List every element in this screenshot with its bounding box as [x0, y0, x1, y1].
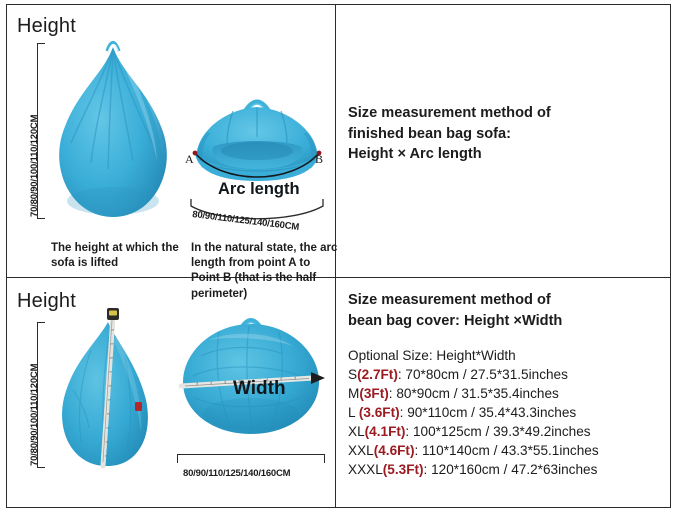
size-sep: : — [424, 462, 432, 477]
size-name: XL — [348, 424, 365, 439]
size-ft: (2.7Ft) — [357, 367, 398, 382]
size-sep: : — [414, 443, 422, 458]
size-metric: 110*140cm / 43.3*55.1inches — [422, 443, 599, 458]
size-row: L (3.6Ft): 90*110cm / 35.4*43.3inches — [348, 403, 599, 422]
tr-line-2: finished bean bag sofa: — [348, 124, 551, 145]
size-ft: (3Ft) — [359, 386, 388, 401]
size-metric: 90*110cm / 35.4*43.3inches — [407, 405, 576, 420]
top-right-description: Size measurement method of finished bean… — [348, 103, 551, 165]
size-name: XXL — [348, 443, 374, 458]
tr-line-1: Size measurement method of — [348, 103, 551, 124]
size-row: XXXL(5.3Ft): 120*160cm / 47.2*63inches — [348, 460, 599, 479]
bean-bag-size-guide: Height 70/80/90/100/110/120CM — [0, 0, 679, 517]
bean-bag-teardrop-image — [45, 31, 181, 223]
size-ft: (4.6Ft) — [374, 443, 415, 458]
size-row: XL(4.1Ft): 100*125cm / 39.3*49.2inches — [348, 422, 599, 441]
panel-bottom-right: Size measurement method of bean bag cove… — [336, 278, 670, 507]
size-metric: 70*80cm / 27.5*31.5inches — [405, 367, 567, 382]
height-dimension-top: 70/80/90/100/110/120CM — [29, 115, 40, 217]
size-name: S — [348, 367, 357, 382]
bottom-right-heading: Size measurement method of bean bag cove… — [348, 290, 562, 331]
bean-bag-upright-image — [51, 306, 157, 474]
caption-height-lifted: The height at which the sofa is lifted — [51, 241, 186, 271]
width-bracket — [177, 454, 325, 463]
tr-line-3: Height × Arc length — [348, 144, 551, 165]
point-b-label: B — [315, 152, 323, 167]
size-sep: : — [405, 424, 413, 439]
size-name: M — [348, 386, 359, 401]
optional-size-header: Optional Size: Height*Width — [348, 346, 599, 365]
size-row: M(3Ft): 80*90cm / 31.5*35.4inches — [348, 384, 599, 403]
panel-top-left: Height 70/80/90/100/110/120CM — [7, 5, 335, 277]
point-a-label: A — [185, 152, 194, 167]
height-dimension-bottom: 70/80/90/100/110/120CM — [29, 364, 40, 466]
br-head-line-1: Size measurement method of — [348, 290, 562, 311]
size-list: Optional Size: Height*Width S(2.7Ft): 70… — [348, 346, 599, 479]
panel-top-right: Size measurement method of finished bean… — [336, 5, 670, 277]
panel-bottom-left: Height 70/80/90/100/110/120CM — [7, 278, 335, 507]
size-ft: (5.3Ft) — [383, 462, 424, 477]
size-metric: 80*90cm / 31.5*35.4inches — [396, 386, 558, 401]
br-head-line-2: bean bag cover: Height ×Width — [348, 311, 562, 332]
size-metric: 120*160cm / 47.2*63inches — [431, 462, 597, 477]
size-ft: (4.1Ft) — [365, 424, 406, 439]
size-ft: (3.6Ft) — [359, 405, 400, 420]
width-dimension-text: 80/90/110/125/140/160CM — [183, 468, 290, 479]
width-label: Width — [233, 378, 286, 400]
bean-bag-cover-flat-image — [175, 310, 327, 442]
size-metric: 100*125cm / 39.3*49.2inches — [413, 424, 591, 439]
size-row: XXL(4.6Ft): 110*140cm / 43.3*55.1inches — [348, 441, 599, 460]
size-name: XXXL — [348, 462, 383, 477]
size-name: L — [348, 405, 359, 420]
size-row: S(2.7Ft): 70*80cm / 27.5*31.5inches — [348, 365, 599, 384]
